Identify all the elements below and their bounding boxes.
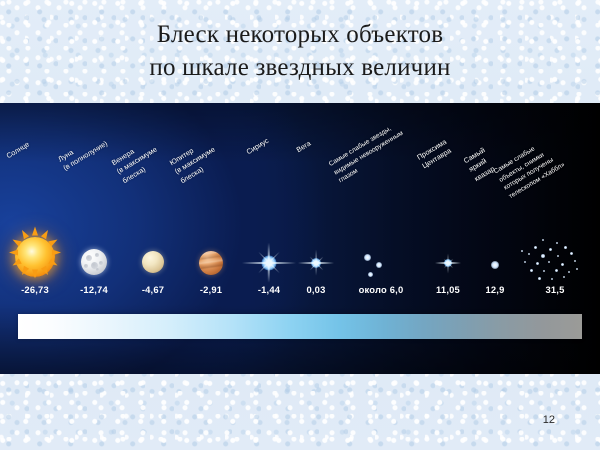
magnitude-value-proxima-centauri: 11,05 <box>420 284 476 295</box>
object-label-faintest-naked-eye-stars: Самые слабые звезды, видимые невооруженн… <box>327 120 410 185</box>
title-line-2: по шкале звездных величин <box>0 51 600 84</box>
object-label-sun: Солнце <box>5 139 32 161</box>
jupiter-icon <box>199 251 223 275</box>
magnitude-scale-panel: Солнце -26,73 Луна (в полн <box>0 103 600 374</box>
venus-icon <box>142 251 164 273</box>
brightness-gradient-bar <box>18 314 582 339</box>
magnitude-value-hubble-faintest-objects: 31,5 <box>512 284 598 295</box>
sun-icon <box>15 237 55 277</box>
presentation-slide: Блеск некоторых объектов по шкале звездн… <box>0 0 600 450</box>
object-label-moon: Луна (в полнолуние) <box>56 130 110 174</box>
object-label-vega: Вега <box>295 139 313 156</box>
magnitude-value-venus: -4,67 <box>124 284 182 295</box>
object-label-proxima-centauri: Проксима Центавра <box>415 137 454 172</box>
magnitude-value-moon: -12,74 <box>65 284 123 295</box>
moon-icon <box>81 249 107 275</box>
magnitude-value-vega: 0,03 <box>290 284 342 295</box>
faint-stars-icon <box>340 241 422 285</box>
page-title: Блеск некоторых объектов по шкале звездн… <box>0 18 600 84</box>
title-line-1: Блеск некоторых объектов <box>0 18 600 51</box>
vega-star-icon <box>290 241 342 285</box>
magnitude-value-jupiter: -2,91 <box>182 284 240 295</box>
magnitude-value-sun: -26,73 <box>6 284 64 295</box>
small-star-icon <box>420 241 476 285</box>
magnitude-value-faintest-naked-eye-stars: около 6,0 <box>340 284 422 295</box>
star-field-icon <box>512 237 598 287</box>
slide-page-number: 12 <box>0 414 555 426</box>
object-label-sirius: Сириус <box>245 136 271 157</box>
